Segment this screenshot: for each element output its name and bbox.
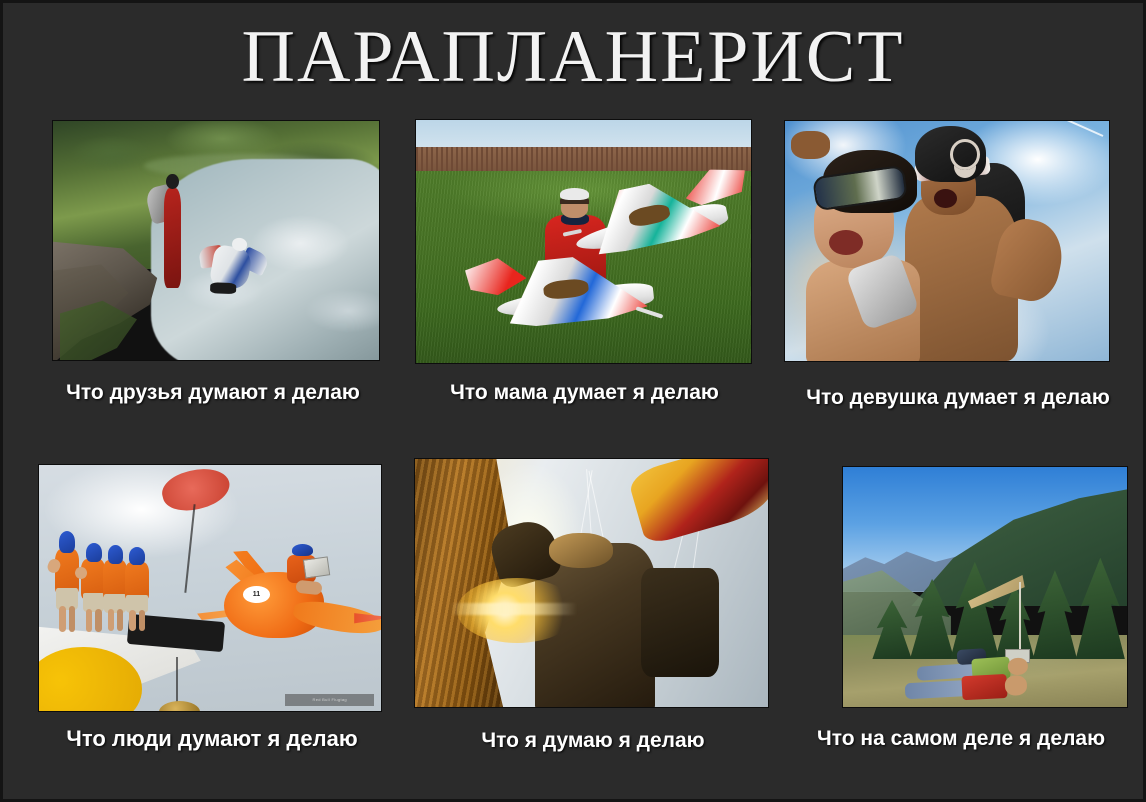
wingsuit-base-jump-photo xyxy=(53,121,379,360)
panel-6-caption: Что на самом деле я делаю xyxy=(773,727,1146,751)
lying-on-hillside-photo xyxy=(843,467,1127,707)
flugtag-bird-craft-photo: 11 Red Bull Flugtag xyxy=(39,465,381,711)
crew-leg xyxy=(139,610,146,631)
pilot-leg xyxy=(295,579,322,594)
blue-helmet xyxy=(108,545,124,564)
falling-jumper-white-suit xyxy=(198,231,267,302)
panel-5-image xyxy=(415,459,768,707)
jumper-helmet xyxy=(166,174,179,190)
jumper-body xyxy=(164,188,180,288)
craft-number: 11 xyxy=(243,586,270,603)
paraglider-sunset-photo xyxy=(415,459,768,707)
launch-crew xyxy=(53,531,162,629)
panel-6-image xyxy=(843,467,1127,707)
tandem-passenger xyxy=(791,150,934,361)
crew-member xyxy=(123,547,154,630)
instructor-mouth xyxy=(934,189,957,208)
crew-leg xyxy=(59,606,66,632)
panel-5-caption: Что я думаю я делаю xyxy=(423,729,763,753)
tree xyxy=(948,562,1001,659)
panel-3-caption: Что девушка думает я делаю xyxy=(767,386,1146,410)
blue-helmet xyxy=(59,531,75,553)
jumper-boots xyxy=(209,282,235,294)
plane-propeller xyxy=(563,229,582,237)
red-shirt xyxy=(962,674,1008,700)
blue-helmet xyxy=(292,544,313,557)
pilot-harness xyxy=(641,568,719,677)
pilot-board xyxy=(303,556,330,578)
photo-watermark: Red Bull Flugtag xyxy=(285,694,374,706)
tree xyxy=(908,579,956,659)
rc-plane-blue xyxy=(472,231,683,353)
person-head xyxy=(1005,675,1028,696)
person-legs xyxy=(905,680,971,699)
crew-leg xyxy=(129,610,136,631)
meme-image: ПАРАПЛАНЕРИСТ Что друзья думают я де xyxy=(0,0,1146,802)
crew-leg xyxy=(86,609,93,632)
windsock-pole xyxy=(1019,582,1021,654)
panel-2-image xyxy=(416,120,751,363)
blue-helmet xyxy=(129,547,145,565)
panel-1-image xyxy=(53,121,379,360)
crew-leg xyxy=(69,606,76,632)
plane-propeller xyxy=(636,305,664,318)
bird-shaped-craft: 11 xyxy=(189,544,381,662)
tree xyxy=(871,600,914,659)
panel-3-image xyxy=(785,121,1109,361)
panel-1-caption: Что друзья думают я делаю xyxy=(13,381,413,405)
crew-leg xyxy=(108,609,115,631)
flyer-body xyxy=(158,465,234,517)
sun-ray xyxy=(450,603,577,615)
pilot-head xyxy=(549,533,613,568)
tree xyxy=(1074,558,1127,659)
rc-model-planes-photo xyxy=(416,120,751,363)
conifer-trees xyxy=(860,553,1127,659)
tandem-skydive-photo xyxy=(785,121,1109,361)
plane-tail xyxy=(681,162,750,208)
meme-title: ПАРАПЛАНЕРИСТ xyxy=(3,11,1143,103)
standing-jumper-red-suit xyxy=(154,174,190,294)
airborne-flyer xyxy=(162,470,230,509)
panel-2-caption: Что мама думает я делаю xyxy=(407,381,762,405)
craft-pilot xyxy=(281,544,323,608)
passenger-mouth xyxy=(829,230,863,255)
blue-helmet xyxy=(86,543,102,562)
panel-4-caption: Что люди думают я делаю xyxy=(17,726,407,752)
raised-fist xyxy=(791,131,830,160)
panel-4-image: 11 Red Bull Flugtag xyxy=(39,465,381,711)
tree xyxy=(1031,570,1079,659)
